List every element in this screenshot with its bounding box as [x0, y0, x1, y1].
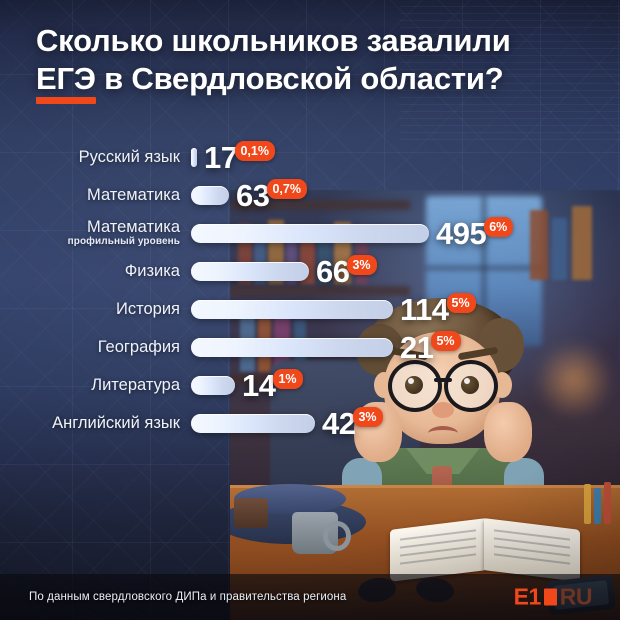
chart-row-label-main: Литература	[91, 376, 180, 394]
chart-value: 66	[316, 256, 349, 287]
e1-ru-logo[interactable]: E1 RU	[514, 584, 592, 611]
chart-bar-wrapper: 1145%	[191, 290, 476, 328]
chart-percent-badge: 1%	[273, 369, 302, 390]
chart-bar-wrapper: 170,1%	[191, 138, 275, 176]
source-text: По данным свердловского ДИПа и правитель…	[29, 591, 346, 603]
chart-row: История1145%	[0, 290, 620, 328]
chart-row: Математикапрофильный уровень4956%	[0, 214, 620, 252]
logo-e1-text: E1	[514, 584, 541, 611]
chart-bar-wrapper: 141%	[191, 366, 303, 404]
chart-row-label: Русский язык	[0, 149, 191, 166]
chart-row-label-main: История	[116, 300, 180, 318]
chart-row: Физика663%	[0, 252, 620, 290]
chart-percent-badge: 6%	[484, 217, 513, 238]
chart-value: 42	[322, 408, 355, 439]
chart-bar	[191, 376, 235, 395]
chart-row: Математика630,7%	[0, 176, 620, 214]
chart-value: 17	[204, 142, 237, 173]
chart-row-label-main: География	[98, 338, 180, 356]
chart-bar-wrapper: 663%	[191, 252, 377, 290]
chart-percent-badge: 3%	[353, 407, 382, 428]
page-title: Сколько школьников завалили ЕГЭ в Свердл…	[36, 22, 596, 100]
chart-bar	[191, 300, 393, 319]
chart-row-sublabel: профильный уровень	[0, 237, 180, 247]
chart-bar	[191, 224, 429, 243]
chart-bar-wrapper: 630,7%	[191, 176, 307, 214]
chart-row-label-main: Русский язык	[79, 148, 180, 166]
title-line-2: ЕГЭ в Свердловской области?	[36, 60, 596, 100]
chart-percent-badge: 0,1%	[235, 141, 275, 162]
chart-bar-wrapper: 423%	[191, 404, 383, 442]
chart-value: 114	[400, 294, 449, 325]
chart-row-label: География	[0, 339, 191, 356]
chart-bar	[191, 186, 229, 205]
chart-row: География215%	[0, 328, 620, 366]
chart-row-label: История	[0, 301, 191, 318]
chart-value: 495	[436, 218, 486, 249]
chart-row: Литература141%	[0, 366, 620, 404]
chart-bar-wrapper: 215%	[191, 328, 461, 366]
chart-row-label: Математикапрофильный уровень	[0, 219, 191, 247]
chart-bar	[191, 148, 197, 167]
chart-percent-badge: 0,7%	[267, 179, 307, 200]
chart-value: 21	[400, 332, 433, 363]
chart-row: Английский язык423%	[0, 404, 620, 442]
chart-row-label-main: Математика	[87, 186, 180, 204]
chart-value: 14	[242, 370, 275, 401]
footer-bar: По данным свердловского ДИПа и правитель…	[0, 574, 620, 620]
chart-row: Русский язык170,1%	[0, 138, 620, 176]
chart-row-label: Литература	[0, 377, 191, 394]
chart-percent-badge: 5%	[431, 331, 460, 352]
chart-value: 63	[236, 180, 269, 211]
chart-percent-badge: 5%	[447, 293, 476, 314]
logo-square-icon	[544, 589, 557, 606]
infographic-poster: Сколько школьников завалили ЕГЭ в Свердл…	[0, 0, 620, 620]
chart-row-label-main: Физика	[125, 262, 180, 280]
chart-row-label: Математика	[0, 187, 191, 204]
chart-bar-wrapper: 4956%	[191, 214, 513, 252]
title-line-1: Сколько школьников завалили	[36, 23, 511, 58]
title-line-2-rest: в Свердловской области?	[96, 61, 504, 96]
chart-percent-badge: 3%	[347, 255, 376, 276]
bar-chart: Русский язык170,1%Математика630,7%Матема…	[0, 138, 620, 442]
logo-ru-text: RU	[560, 584, 592, 611]
chart-bar	[191, 414, 315, 433]
chart-bar	[191, 262, 309, 281]
chart-row-label-main: Английский язык	[52, 414, 180, 432]
chart-bar	[191, 338, 393, 357]
chart-row-label-main: Математика	[87, 218, 180, 236]
chart-row-label: Английский язык	[0, 415, 191, 432]
title-highlight-ege: ЕГЭ	[36, 60, 96, 100]
chart-row-label: Физика	[0, 263, 191, 280]
